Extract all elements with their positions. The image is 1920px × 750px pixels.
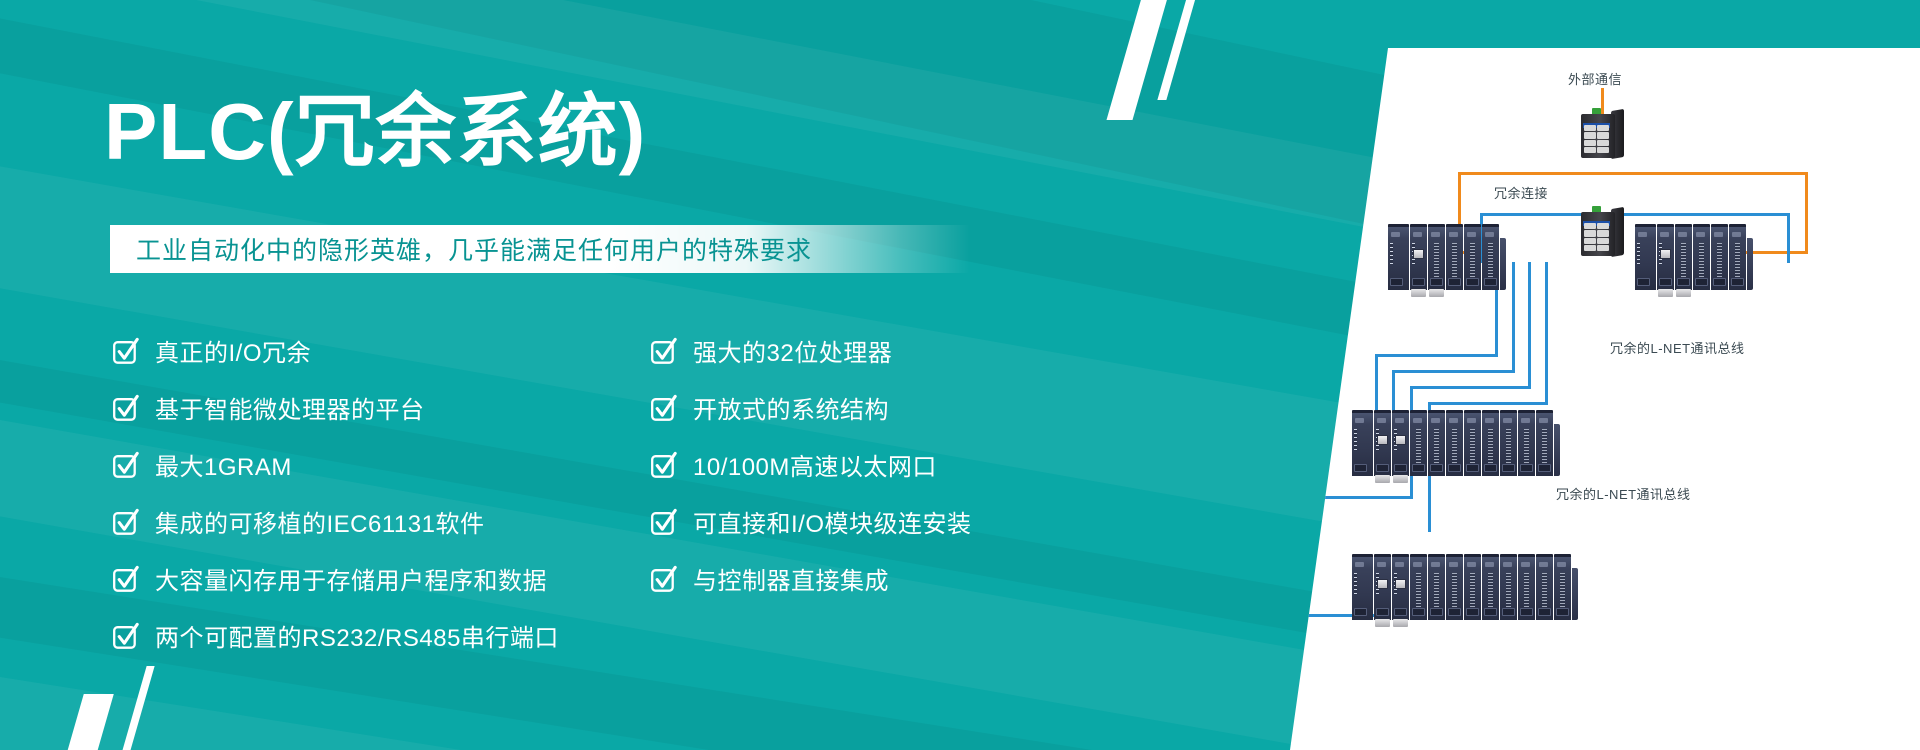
module-led-strip: [1434, 429, 1439, 463]
rack-module-cpu: [1392, 554, 1409, 620]
feature-item: 基于智能微处理器的平台: [112, 379, 632, 436]
rack-module-io: [1693, 224, 1710, 290]
rack-module-io: [1536, 410, 1553, 476]
checkbox-checked-icon: [112, 394, 139, 421]
module-terminal: [1394, 608, 1407, 616]
feature-item: 强大的32位处理器: [650, 322, 1130, 379]
module-terminal: [1520, 464, 1533, 472]
module-connector: [1375, 619, 1390, 627]
module-led-strip: [1717, 243, 1722, 277]
rack-io-lower: [1352, 554, 1578, 620]
module-connector: [1429, 289, 1444, 297]
rack-module-io: [1428, 410, 1445, 476]
rack-module-cpu: [1657, 224, 1674, 290]
module-connector: [1393, 475, 1408, 483]
wire-lnet-a2-h: [1392, 370, 1515, 373]
rack-module-io: [1554, 554, 1571, 620]
module-rj45-port: [1413, 249, 1424, 259]
wire-redundant-ring-right: [1787, 213, 1790, 263]
wire-lnet-b1-h: [1428, 402, 1548, 405]
rack-module-io: [1675, 224, 1692, 290]
switch-port: [1584, 147, 1596, 153]
switch-port: [1597, 140, 1609, 146]
decorative-slash-top-thin: [1157, 0, 1203, 100]
feature-label: 基于智能微处理器的平台: [155, 390, 425, 425]
rack-end-cap: [1747, 238, 1753, 290]
rack-module-io: [1428, 554, 1445, 620]
rack-cpu-b: [1635, 224, 1753, 290]
label-lnet-bus-upper: 冗余的L-NET通讯总线: [1610, 338, 1745, 357]
plc-banner: 外部通信 冗余连接 冗余的L-NET通讯总线 冗余的L-NET通讯总线: [0, 0, 1920, 750]
feature-item: 集成的可移植的IEC61131软件: [112, 493, 632, 550]
rack-module-io: [1446, 224, 1463, 290]
switch-port: [1597, 132, 1609, 138]
feature-item: 真正的I/O冗余: [112, 322, 632, 379]
label-lnet-bus-lower: 冗余的L-NET通讯总线: [1556, 484, 1691, 503]
module-terminal: [1659, 278, 1672, 286]
wire-lower-drop-b: [1428, 496, 1431, 532]
rack-module-io: [1482, 410, 1499, 476]
decorative-slash-bottom-thin: [109, 666, 154, 750]
module-led-strip: [1735, 243, 1740, 277]
rack-module-io: [1482, 224, 1499, 290]
module-led-strip: [1452, 243, 1457, 277]
module-terminal: [1376, 608, 1389, 616]
checkbox-checked-icon: [112, 451, 139, 478]
module-led-strip: [1524, 573, 1529, 607]
rack-module-io: [1482, 554, 1499, 620]
feature-item: 开放式的系统结构: [650, 379, 1130, 436]
module-led-strip: [1524, 429, 1529, 463]
wire-lower-drop-a: [1320, 416, 1323, 498]
switch-port: [1584, 223, 1596, 229]
wire-external-bus-horizontal: [1458, 172, 1808, 175]
feature-label: 最大1GRAM: [155, 447, 292, 482]
module-led-strip: [1470, 573, 1475, 607]
rack-module-io: [1518, 410, 1535, 476]
checkbox-checked-icon: [650, 337, 677, 364]
switch-port: [1597, 245, 1609, 251]
module-terminal: [1354, 464, 1367, 472]
wire-external-bus-right: [1805, 172, 1808, 254]
module-terminal: [1466, 278, 1479, 286]
feature-item: 两个可配置的RS232/RS485串行端口: [112, 607, 632, 664]
module-led-strip: [1416, 429, 1421, 463]
module-terminal: [1520, 608, 1533, 616]
module-led-strip: [1488, 243, 1493, 277]
module-led-strip: [1470, 429, 1475, 463]
rack-module-io: [1410, 410, 1427, 476]
switch-port: [1584, 125, 1596, 131]
module-terminal: [1484, 608, 1497, 616]
decorative-slash-bottom-thick: [52, 694, 114, 750]
module-terminal: [1390, 278, 1403, 286]
checkbox-checked-icon: [650, 451, 677, 478]
module-leds: [1637, 243, 1640, 265]
module-terminal: [1556, 608, 1569, 616]
module-terminal: [1412, 608, 1425, 616]
feature-item: 大容量闪存用于存储用户程序和数据: [112, 550, 632, 607]
feature-label: 真正的I/O冗余: [155, 333, 311, 368]
rack-module-io: [1500, 410, 1517, 476]
rack-end-cap: [1572, 568, 1578, 620]
rack-module-io: [1464, 410, 1481, 476]
checkbox-checked-icon: [112, 565, 139, 592]
module-terminal: [1412, 464, 1425, 472]
module-led-strip: [1699, 243, 1704, 277]
feature-label: 强大的32位处理器: [693, 333, 892, 368]
rack-module-power: [1388, 224, 1409, 290]
feature-column-right: 强大的32位处理器开放式的系统结构10/100M高速以太网口可直接和I/O模块级…: [650, 322, 1130, 664]
rack-module-cpu: [1374, 410, 1391, 476]
rack-end-cap: [1500, 238, 1506, 290]
module-terminal: [1466, 464, 1479, 472]
module-terminal: [1677, 278, 1690, 286]
module-led-strip: [1470, 243, 1475, 277]
rack-module-cpu: [1374, 554, 1391, 620]
module-terminal: [1354, 608, 1367, 616]
feature-column-left: 真正的I/O冗余基于智能微处理器的平台最大1GRAM集成的可移植的IEC6113…: [112, 322, 632, 664]
module-terminal: [1412, 278, 1425, 286]
module-led-strip: [1506, 429, 1511, 463]
module-connector: [1411, 289, 1426, 297]
module-rj45-port: [1395, 435, 1406, 445]
feature-item: 可直接和I/O模块级连安装: [650, 493, 1130, 550]
feature-label: 大容量闪存用于存储用户程序和数据: [155, 561, 547, 596]
wire-lnet-b1: [1545, 262, 1548, 402]
rack-module-io: [1711, 224, 1728, 290]
module-led-strip: [1506, 573, 1511, 607]
switch-port: [1597, 238, 1609, 244]
module-rj45-port: [1395, 579, 1406, 589]
switch-port: [1597, 125, 1609, 131]
rack-module-cpu: [1392, 410, 1409, 476]
rack-module-io: [1518, 554, 1535, 620]
switch-port-grid: [1584, 223, 1609, 251]
switch-port: [1584, 245, 1596, 251]
module-rj45-port: [1377, 435, 1388, 445]
rack-module-io: [1536, 554, 1553, 620]
rack-module-io: [1428, 224, 1445, 290]
checkbox-checked-icon: [112, 622, 139, 649]
module-led-strip: [1452, 429, 1457, 463]
module-terminal: [1637, 278, 1650, 286]
module-leds: [1354, 429, 1357, 451]
module-led-strip: [1488, 429, 1493, 463]
module-terminal: [1466, 608, 1479, 616]
rack-cpu-a: [1388, 224, 1506, 290]
label-redundant-link: 冗余连接: [1494, 183, 1548, 202]
switch-port: [1584, 230, 1596, 236]
module-terminal: [1731, 278, 1744, 286]
module-terminal: [1502, 608, 1515, 616]
plc-topology-diagram: 外部通信 冗余连接 冗余的L-NET通讯总线 冗余的L-NET通讯总线: [1290, 48, 1920, 750]
module-led-strip: [1542, 573, 1547, 607]
module-led-strip: [1542, 429, 1547, 463]
feature-label: 两个可配置的RS232/RS485串行端口: [155, 618, 559, 653]
page-title: PLC(冗余系统): [104, 92, 646, 172]
switch-port: [1597, 230, 1609, 236]
feature-item: 最大1GRAM: [112, 436, 632, 493]
module-terminal: [1430, 464, 1443, 472]
module-led-strip: [1434, 243, 1439, 277]
switch-port: [1597, 223, 1609, 229]
switch-port: [1584, 132, 1596, 138]
module-terminal: [1448, 608, 1461, 616]
module-terminal: [1695, 278, 1708, 286]
module-rj45-port: [1660, 249, 1671, 259]
rack-module-io: [1500, 554, 1517, 620]
module-terminal: [1430, 278, 1443, 286]
module-led-strip: [1681, 243, 1686, 277]
checkbox-checked-icon: [650, 508, 677, 535]
module-led-strip: [1560, 573, 1565, 607]
switch-port: [1597, 147, 1609, 153]
module-terminal: [1502, 464, 1515, 472]
wire-lower-h1: [1320, 496, 1413, 499]
module-connector: [1375, 475, 1390, 483]
diagram-panel: 外部通信 冗余连接 冗余的L-NET通讯总线 冗余的L-NET通讯总线: [1290, 48, 1920, 750]
module-terminal: [1713, 278, 1726, 286]
switch-port-grid: [1584, 125, 1609, 153]
wire-lnet-drop-1: [1375, 354, 1378, 416]
feature-item: 与控制器直接集成: [650, 550, 1130, 607]
module-terminal: [1376, 464, 1389, 472]
module-terminal: [1484, 464, 1497, 472]
feature-label: 10/100M高速以太网口: [693, 447, 937, 482]
rack-io-upper: [1352, 410, 1560, 476]
wire-lnet-a2: [1512, 262, 1515, 370]
rack-module-io: [1464, 554, 1481, 620]
subtitle-band: 工业自动化中的隐形英雄，几乎能满足任何用户的特殊要求: [110, 225, 970, 273]
module-terminal: [1394, 464, 1407, 472]
module-terminal: [1430, 608, 1443, 616]
module-terminal: [1538, 608, 1551, 616]
rack-end-cap: [1554, 424, 1560, 476]
module-leds: [1354, 573, 1357, 595]
module-led-strip: [1416, 573, 1421, 607]
label-external-communication: 外部通信: [1568, 69, 1622, 88]
module-terminal: [1448, 278, 1461, 286]
rack-module-io: [1410, 554, 1427, 620]
checkbox-checked-icon: [112, 337, 139, 364]
rack-module-io: [1464, 224, 1481, 290]
wire-lnet-a3: [1528, 262, 1531, 386]
module-connector: [1658, 289, 1673, 297]
rack-module-cpu: [1410, 224, 1427, 290]
feature-label: 可直接和I/O模块级连安装: [693, 504, 972, 539]
rack-module-io: [1729, 224, 1746, 290]
wire-lnet-a3-h: [1410, 386, 1531, 389]
rack-module-io: [1446, 554, 1463, 620]
rack-module-power: [1635, 224, 1656, 290]
checkbox-checked-icon: [650, 565, 677, 592]
subtitle-text: 工业自动化中的隐形英雄，几乎能满足任何用户的特殊要求: [110, 231, 812, 267]
rack-module-power: [1352, 410, 1373, 476]
module-led-strip: [1488, 573, 1493, 607]
module-connector: [1676, 289, 1691, 297]
rack-module-power: [1352, 554, 1373, 620]
module-led-strip: [1434, 573, 1439, 607]
checkbox-checked-icon: [112, 508, 139, 535]
wire-lnet-a1-h: [1375, 354, 1498, 357]
module-led-strip: [1452, 573, 1457, 607]
wire-redundant-ring-top: [1480, 213, 1790, 216]
module-connector: [1393, 619, 1408, 627]
module-rj45-port: [1377, 579, 1388, 589]
feature-list: 真正的I/O冗余基于智能微处理器的平台最大1GRAM集成的可移植的IEC6113…: [112, 322, 1162, 664]
feature-label: 开放式的系统结构: [693, 390, 889, 425]
checkbox-checked-icon: [650, 394, 677, 421]
module-leds: [1390, 243, 1393, 265]
rack-module-io: [1446, 410, 1463, 476]
feature-label: 与控制器直接集成: [693, 561, 889, 596]
module-terminal: [1484, 278, 1497, 286]
switch-port: [1584, 140, 1596, 146]
feature-label: 集成的可移植的IEC61131软件: [155, 504, 484, 539]
module-terminal: [1538, 464, 1551, 472]
switch-port: [1584, 238, 1596, 244]
decorative-slash-top-thick: [1106, 0, 1175, 120]
module-terminal: [1448, 464, 1461, 472]
feature-item: 10/100M高速以太网口: [650, 436, 1130, 493]
